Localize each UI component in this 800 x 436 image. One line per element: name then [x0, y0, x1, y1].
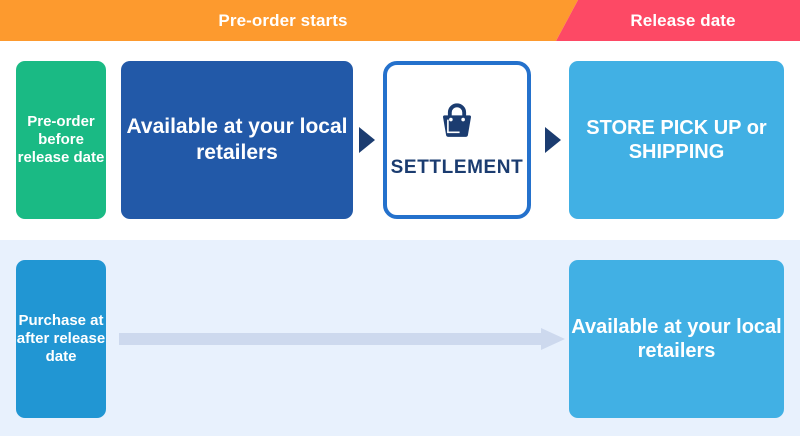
- postrelease-availability-label: Available at your local retailers: [569, 315, 784, 364]
- postrelease-availability-card: Available at your local retailers: [569, 260, 784, 418]
- preorder-availability-label: Available at your local retailers: [121, 114, 353, 165]
- postrelease-trigger-card: Purchase at after release date: [16, 260, 106, 418]
- postrelease-flow-arrow-icon: [119, 328, 565, 350]
- arrow-head: [541, 328, 565, 350]
- fulfillment-label: STORE PICK UP or SHIPPING: [569, 116, 784, 165]
- settlement-label: SETTLEMENT: [391, 156, 524, 179]
- fulfillment-card: STORE PICK UP or SHIPPING: [569, 61, 784, 219]
- timeline-banner: Pre-order starts Release date: [0, 0, 800, 41]
- postrelease-trigger-label: Purchase at after release date: [16, 312, 106, 367]
- shopping-bag-icon: [434, 100, 480, 146]
- preorder-timeline-diagram: Pre-order starts Release date Pre-order …: [0, 0, 800, 436]
- settlement-card: SETTLEMENT: [383, 61, 531, 219]
- banner-release-label: Release date: [566, 0, 800, 41]
- banner-preorder-label: Pre-order starts: [0, 0, 566, 41]
- preorder-flow-row: Pre-order before release date Available …: [0, 41, 800, 240]
- preorder-trigger-card: Pre-order before release date: [16, 61, 106, 219]
- flow-arrow-to-settlement-icon: [359, 127, 375, 153]
- postrelease-flow-row: Purchase at after release date Available…: [0, 240, 800, 436]
- preorder-trigger-label: Pre-order before release date: [16, 113, 106, 168]
- arrow-shaft: [119, 333, 543, 345]
- preorder-availability-card: Available at your local retailers: [121, 61, 353, 219]
- flow-arrow-to-fulfillment-icon: [545, 127, 561, 153]
